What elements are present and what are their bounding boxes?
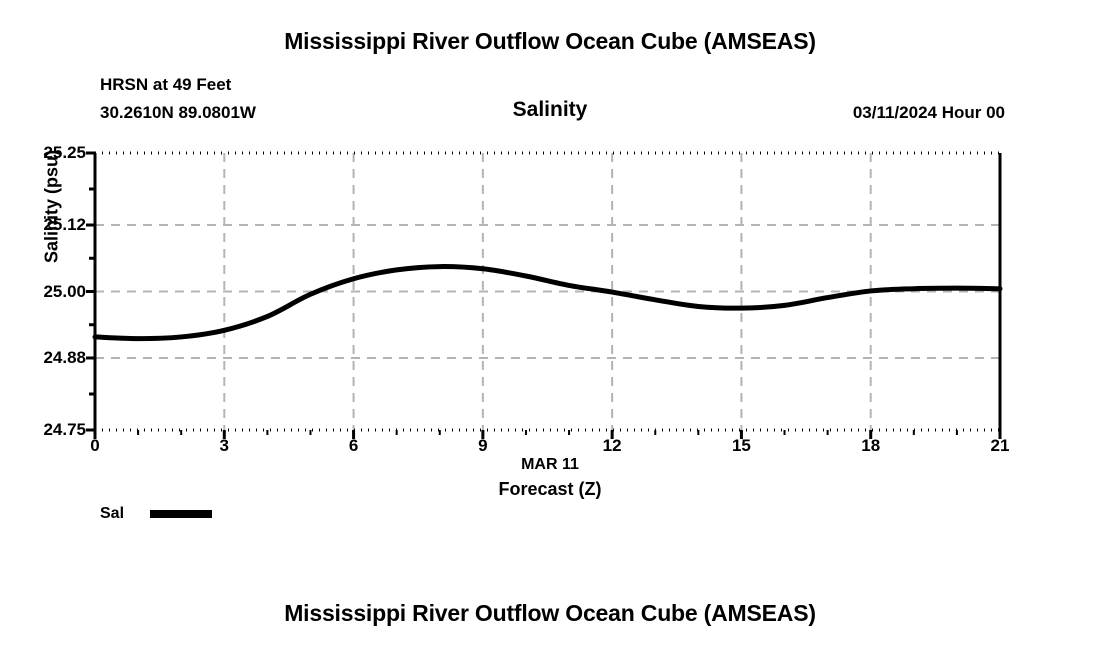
axis-ticks — [86, 153, 1000, 439]
x-tick-label: 6 — [324, 436, 384, 456]
page-title-bottom: Mississippi River Outflow Ocean Cube (AM… — [0, 600, 1100, 627]
x-tick-label: 0 — [65, 436, 125, 456]
plot-area — [0, 0, 1100, 650]
chart-page: Mississippi River Outflow Ocean Cube (AM… — [0, 0, 1100, 650]
x-tick-label: 18 — [841, 436, 901, 456]
y-tick-label: 24.88 — [43, 348, 86, 368]
chart-legend: Sal — [100, 505, 212, 523]
legend-swatch-sal — [150, 510, 212, 518]
y-tick-label: 25.12 — [43, 215, 86, 235]
data-line-sal — [95, 267, 1000, 339]
chart-svg — [0, 0, 1100, 650]
x-tick-label: 12 — [582, 436, 642, 456]
legend-label-sal: Sal — [100, 505, 124, 523]
x-tick-label: 9 — [453, 436, 513, 456]
y-tick-label: 25.25 — [43, 143, 86, 163]
x-tick-label: 3 — [194, 436, 254, 456]
x-tick-label: 21 — [970, 436, 1030, 456]
x-tick-label: 15 — [711, 436, 771, 456]
data-series-layer — [95, 267, 1000, 339]
x-axis-date-label: MAR 11 — [0, 456, 1100, 474]
x-axis-title: Forecast (Z) — [0, 479, 1100, 500]
y-tick-label: 25.00 — [43, 282, 86, 302]
